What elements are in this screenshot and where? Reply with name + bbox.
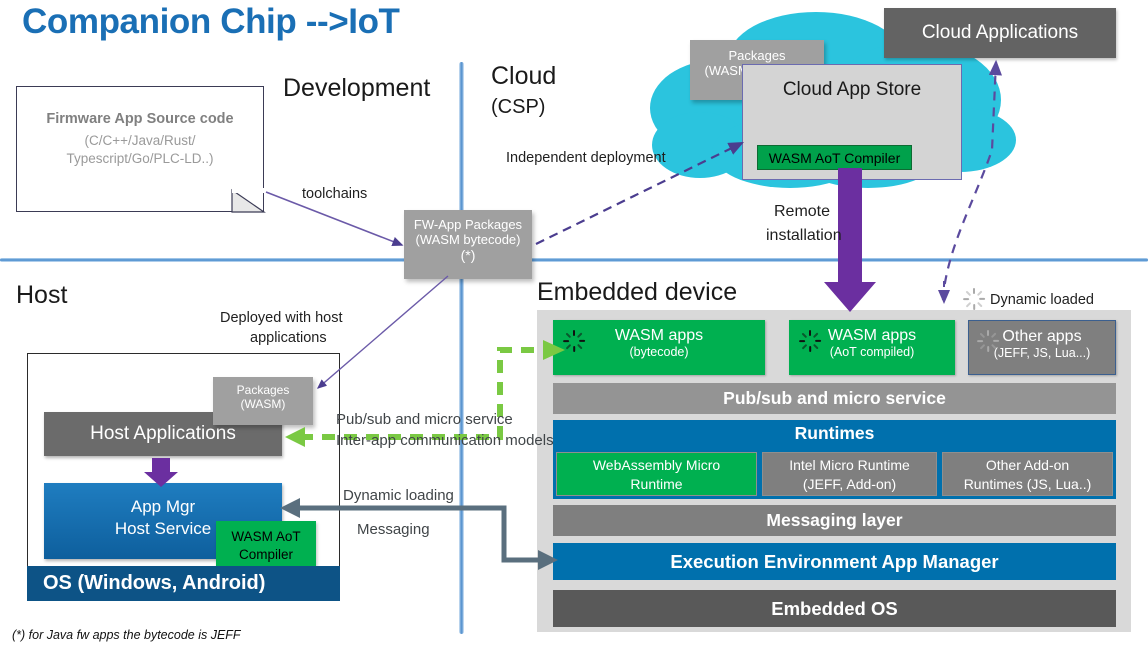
label-independent-deployment: Independent deployment	[506, 150, 666, 166]
page-title: Companion Chip -->IoT	[22, 2, 400, 42]
firmware-languages-line2: Typescript/Go/PLC-LD..)	[17, 150, 263, 168]
runtime-1-line1: Intel Micro Runtime	[763, 456, 936, 475]
label-messaging: Messaging	[357, 521, 430, 538]
cloud-app-store-title: Cloud App Store	[743, 79, 961, 101]
footnote-text: (*) for Java fw apps the bytecode is JEF…	[12, 628, 241, 642]
runtime-2-line1: Other Add-on	[943, 456, 1112, 475]
runtime-2-line2: Runtimes (JS, Lua..)	[943, 475, 1112, 494]
runtime-0-line1: WebAssembly Micro	[557, 456, 756, 475]
cloud-applications-box[interactable]: Cloud Applications	[884, 8, 1116, 58]
firmware-box-title: Firmware App Source code	[17, 111, 263, 127]
embedded-row-pubsub[interactable]: Pub/sub and micro service	[553, 383, 1116, 414]
section-heading-development: Development	[283, 74, 430, 103]
fw-packages-line2: (WASM bytecode)	[404, 232, 532, 247]
embedded-row-embedded-os[interactable]: Embedded OS	[553, 590, 1116, 627]
diagram-canvas: Companion Chip -->IoT Development Cloud …	[0, 0, 1148, 653]
host-aot-line1: WASM AoT	[216, 528, 316, 546]
runtime-other-addon[interactable]: Other Add-on Runtimes (JS, Lua..)	[942, 452, 1113, 496]
host-wasm-aot-compiler-box[interactable]: WASM AoT Compiler	[216, 521, 316, 571]
section-heading-cloud: Cloud	[491, 62, 556, 91]
host-aot-line2: Compiler	[216, 546, 316, 564]
label-dynamic-loading: Dynamic loading	[343, 487, 454, 504]
host-packages-tag: Packages (WASM)	[213, 377, 313, 425]
label-toolchains: toolchains	[302, 186, 367, 202]
firmware-languages-line1: (C/C++/Java/Rust/	[17, 132, 263, 150]
host-os-bar[interactable]: OS (Windows, Android)	[27, 566, 340, 601]
embedded-runtimes-title: Runtimes	[553, 420, 1116, 444]
section-heading-host: Host	[16, 281, 67, 310]
app-mgr-line1: App Mgr	[44, 496, 282, 518]
section-subheading-csp: (CSP)	[491, 96, 545, 119]
label-deployed-with-host-line2: applications	[250, 330, 327, 346]
dynamic-loaded-legend-label: Dynamic loaded	[990, 292, 1094, 308]
dynamic-loaded-spinner-icon	[799, 330, 821, 352]
label-deployed-with-host-line1: Deployed with host	[220, 310, 343, 326]
label-inter-app-models: Inter-app communication models	[336, 432, 554, 449]
label-remote-installation-line2: installation	[766, 227, 842, 245]
embedded-row-messaging-layer[interactable]: Messaging layer	[553, 505, 1116, 536]
runtime-1-line2: (JEFF, Add-on)	[763, 475, 936, 494]
label-pubsub-micro-service: Pub/sub and micro service	[336, 411, 513, 428]
fw-packages-line1: FW-App Packages	[404, 217, 532, 232]
host-packages-line1: Packages	[213, 383, 313, 397]
dynamic-loaded-spinner-icon	[977, 330, 999, 352]
horizontal-divider	[0, 258, 1148, 262]
fw-app-packages-tag: FW-App Packages (WASM bytecode) (*)	[404, 210, 532, 279]
firmware-box-languages: (C/C++/Java/Rust/ Typescript/Go/PLC-LD..…	[17, 132, 263, 168]
label-remote-installation-line1: Remote	[774, 203, 830, 221]
cloud-wasm-aot-compiler-box[interactable]: WASM AoT Compiler	[757, 145, 912, 170]
host-packages-line2: (WASM)	[213, 397, 313, 411]
runtime-webassembly-micro[interactable]: WebAssembly Micro Runtime	[556, 452, 757, 496]
cloud-packages-line1: Packages	[690, 48, 824, 63]
embedded-row-exec-env-app-manager[interactable]: Execution Environment App Manager	[553, 543, 1116, 580]
runtime-0-line2: Runtime	[557, 475, 756, 494]
firmware-app-source-box[interactable]: Firmware App Source code (C/C++/Java/Rus…	[16, 86, 264, 212]
vertical-divider	[459, 62, 464, 634]
runtime-intel-micro[interactable]: Intel Micro Runtime (JEFF, Add-on)	[762, 452, 937, 496]
dynamic-loaded-legend-icon	[963, 288, 985, 310]
dynamic-loaded-spinner-icon	[563, 330, 585, 352]
fw-packages-line3: (*)	[404, 247, 532, 263]
section-heading-embedded-device: Embedded device	[537, 278, 737, 307]
